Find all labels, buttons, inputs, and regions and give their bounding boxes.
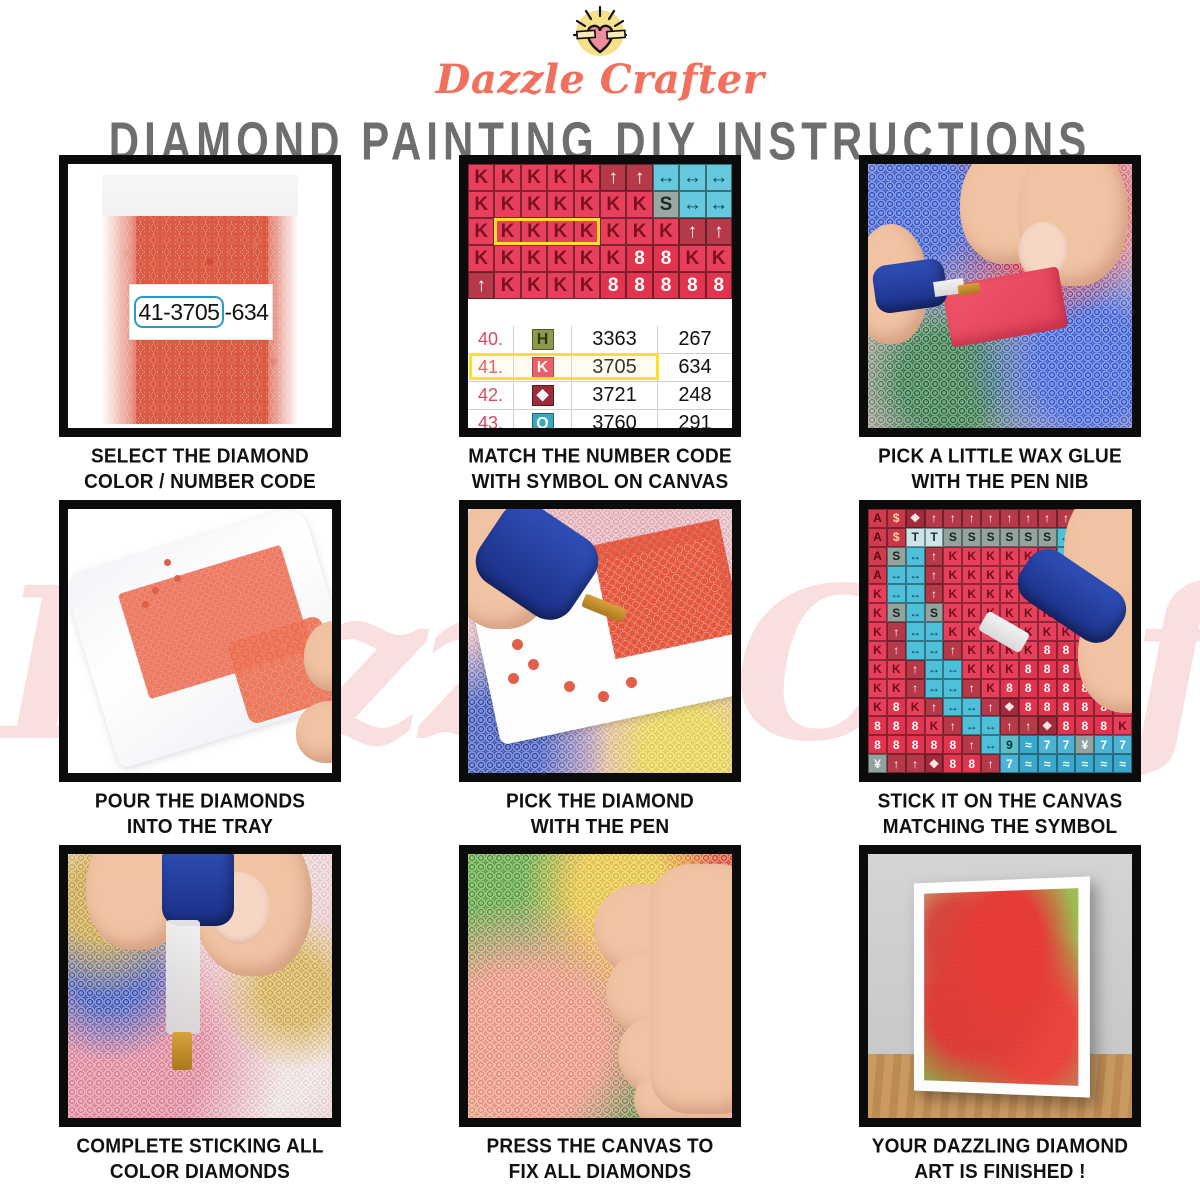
legend-row-count: 267 — [658, 326, 732, 353]
symbol-cell: K — [868, 584, 887, 603]
grooved-tray-with-red-diamonds-photo — [68, 509, 332, 773]
symbol-cell: ↑ — [906, 660, 925, 679]
step-7-caption-line1: COMPLETE STICKING ALL — [50, 1135, 350, 1161]
symbol-cell: ❖ — [906, 509, 925, 528]
step-3-caption-line1: PICK A LITTLE WAX GLUE — [850, 445, 1150, 471]
symbol-cell: 8 — [1057, 679, 1076, 698]
symbol-cell: ↔ — [925, 641, 944, 660]
symbol-cell: ↑ — [887, 622, 906, 641]
chart-cell: K — [468, 218, 494, 245]
chart-cell: 8 — [653, 245, 679, 272]
legend-row-dmc-code: 3363 — [572, 326, 658, 353]
step-3: PICK A LITTLE WAX GLUE WITH THE PEN NIB — [850, 155, 1150, 500]
symbol-cell: 8 — [1057, 698, 1076, 717]
legend-color-swatch: Q — [532, 413, 554, 434]
symbol-cell: K — [981, 641, 1000, 660]
step-2-caption-line1: MATCH THE NUMBER CODE — [450, 445, 750, 471]
symbol-cell: ↔ — [906, 641, 925, 660]
symbol-cell: K — [962, 566, 981, 585]
symbol-cell: K — [868, 660, 887, 679]
symbol-cell: 8 — [887, 698, 906, 717]
symbol-cell: 7 — [1094, 735, 1113, 754]
blue-pen-grip — [162, 854, 234, 926]
symbol-cell: ↔ — [887, 584, 906, 603]
step-4: POUR THE DIAMONDS INTO THE TRAY — [50, 500, 350, 845]
symbol-cell: K — [943, 584, 962, 603]
bag-code-text: 41-3705-634 — [134, 299, 269, 326]
chart-cell: K — [468, 245, 494, 272]
symbol-cell: ❖ — [1038, 716, 1057, 735]
step-5: PICK THE DIAMOND WITH THE PEN — [450, 500, 750, 845]
symbol-cell: ≈ — [1019, 754, 1038, 773]
symbol-cell: S — [1000, 528, 1019, 547]
symbol-cell: ↔ — [906, 547, 925, 566]
stray-diamond — [152, 587, 159, 594]
symbol-cell: K — [1000, 566, 1019, 585]
symbol-cell: ↔ — [925, 660, 944, 679]
symbol-cell: 8 — [943, 754, 962, 773]
symbol-cell: K — [1000, 547, 1019, 566]
chart-cell: K — [679, 245, 705, 272]
symbol-cell: S — [925, 603, 944, 622]
symbol-cell: ↔ — [906, 603, 925, 622]
symbol-cell: ↑ — [1019, 509, 1038, 528]
step-4-caption-line1: POUR THE DIAMONDS — [50, 790, 350, 816]
step-4-caption-line2: INTO THE TRAY — [50, 815, 350, 841]
symbol-cell: A — [868, 547, 887, 566]
symbol-cell: 8 — [962, 754, 981, 773]
stray-diamond — [174, 575, 181, 582]
symbol-cell: K — [868, 698, 887, 717]
symbol-cell: ↔ — [943, 679, 962, 698]
symbol-cell: K — [868, 622, 887, 641]
symbol-cell: 8 — [1057, 660, 1076, 679]
symbol-cell: S — [962, 528, 981, 547]
symbol-cell: K — [943, 566, 962, 585]
chart-cell: K — [547, 245, 573, 272]
symbol-cell: K — [943, 547, 962, 566]
symbol-cell: ↔ — [981, 716, 1000, 735]
symbol-cell: K — [962, 603, 981, 622]
symbol-cell: 8 — [943, 735, 962, 754]
symbol-cell: K — [981, 679, 1000, 698]
hands-pen-nib-in-pink-wax-photo — [868, 164, 1132, 428]
symbol-cell: 8 — [1094, 716, 1113, 735]
legend-row-symbol: Q — [514, 410, 572, 437]
symbol-cell: ↑ — [962, 735, 981, 754]
symbol-cell: A — [868, 566, 887, 585]
symbol-cell: 7 — [1113, 735, 1132, 754]
step-6: A$❖↑↑↑↑↑↑↑↑↑KKA$TTSSSSSS↔↔SSAS↔↑KKKKK↑↔↔… — [850, 500, 1150, 845]
symbol-cell: ↔ — [887, 566, 906, 585]
diamond-bag: 41-3705-634 — [102, 174, 298, 424]
step-9: YOUR DAZZLING DIAMOND ART IS FINISHED ! — [850, 845, 1150, 1190]
symbol-cell: ↑ — [925, 509, 944, 528]
symbol-cell: 7 — [1038, 735, 1057, 754]
stray-diamond — [626, 677, 637, 688]
canvas-chart-with-legend-table: KKKKK↑↑↔↔↔KKKKKKKS↔↔KKKKKKKK↑↑KKKKKK88KK… — [468, 164, 732, 428]
symbol-cell: 8 — [906, 716, 925, 735]
steps-grid: 41-3705-634 SELECT THE DIAMOND COLOR / N… — [0, 155, 1200, 1190]
symbol-cell: K — [887, 679, 906, 698]
symbol-cell: K — [1113, 716, 1132, 735]
symbol-cell: ≈ — [1057, 754, 1076, 773]
step-9-caption: YOUR DAZZLING DIAMOND ART IS FINISHED ! — [850, 1135, 1150, 1186]
step-2-image-frame: KKKKK↑↑↔↔↔KKKKKKKS↔↔KKKKKKKK↑↑KKKKKK88KK… — [459, 155, 741, 437]
chart-cell: 8 — [706, 272, 732, 299]
symbol-cell: K — [1000, 584, 1019, 603]
symbol-cell: ↑ — [925, 547, 944, 566]
stray-diamond — [598, 691, 609, 702]
symbol-cell: ↑ — [1038, 509, 1057, 528]
symbol-cell: S — [981, 528, 1000, 547]
stray-diamond — [142, 601, 149, 608]
hand-with-pen-on-finished-canvas-photo — [68, 854, 332, 1118]
symbol-cell: 8 — [1075, 716, 1094, 735]
chart-cell: ↔ — [679, 164, 705, 191]
hand-pressing-floral-canvas-photo — [468, 854, 732, 1118]
step-5-caption-line2: WITH THE PEN — [450, 815, 750, 841]
symbol-canvas-with-pen-photo: A$❖↑↑↑↑↑↑↑↑↑KKA$TTSSSSSS↔↔SSAS↔↑KKKKK↑↔↔… — [868, 509, 1132, 773]
legend-row: 43.Q3760291 — [468, 410, 732, 437]
symbol-cell: K — [1038, 622, 1057, 641]
step-1: 41-3705-634 SELECT THE DIAMOND COLOR / N… — [50, 155, 350, 500]
stray-diamond — [164, 559, 171, 566]
chart-cell: S — [653, 191, 679, 218]
symbol-cell: 8 — [887, 735, 906, 754]
chart-cell: K — [521, 164, 547, 191]
symbol-cell: 8 — [868, 716, 887, 735]
blue-pen-picking-diamond-from-tray-photo — [468, 509, 732, 773]
step-6-caption-line1: STICK IT ON THE CANVAS — [850, 790, 1150, 816]
symbol-cell: K — [1000, 660, 1019, 679]
chart-cell: 8 — [679, 272, 705, 299]
legend-row-count: 291 — [658, 410, 732, 437]
symbol-cell: 8 — [1038, 698, 1057, 717]
symbol-cell: ↔ — [943, 698, 962, 717]
symbol-cell: 8 — [1038, 641, 1057, 660]
step-6-caption-line2: MATCHING THE SYMBOL — [850, 815, 1150, 841]
legend-row-symbol: H — [514, 326, 572, 353]
symbol-cell: ↔ — [962, 716, 981, 735]
chart-cell: K — [626, 218, 652, 245]
page-header: Dazzle Crafter DIAMOND PAINTING DIY INST… — [0, 0, 1200, 159]
chart-cell: 8 — [653, 272, 679, 299]
symbol-cell: ¥ — [868, 754, 887, 773]
symbol-cell: ≈ — [1038, 754, 1057, 773]
chart-cell: K — [468, 191, 494, 218]
step-8: PRESS THE CANVAS TO FIX ALL DIAMONDS — [450, 845, 750, 1190]
symbol-cell: ↑ — [981, 754, 1000, 773]
symbol-cell: T — [925, 528, 944, 547]
chart-cell: K — [521, 245, 547, 272]
symbol-cell: K — [962, 622, 981, 641]
symbol-cell: $ — [887, 509, 906, 528]
stray-diamond — [508, 673, 519, 684]
instructions-page: Dazzle Crafter DIAMOND PAINTING DIY INST… — [0, 0, 1200, 1200]
symbol-cell: ¥ — [1075, 735, 1094, 754]
symbol-cell: ↑ — [943, 641, 962, 660]
symbol-cell: ↔ — [981, 735, 1000, 754]
symbol-cell: A — [868, 509, 887, 528]
symbol-cell: ↑ — [887, 641, 906, 660]
chart-cell: K — [574, 245, 600, 272]
symbol-cell: ↑ — [1000, 716, 1019, 735]
symbol-cell: K — [943, 622, 962, 641]
legend-row-dmc-code: 3760 — [572, 410, 658, 437]
step-3-caption-line2: WITH THE PEN NIB — [850, 470, 1150, 496]
chart-cell: K — [574, 164, 600, 191]
symbol-cell: ↔ — [962, 698, 981, 717]
symbol-cell: 8 — [1057, 716, 1076, 735]
symbol-cell: 7 — [1057, 735, 1076, 754]
step-7-caption: COMPLETE STICKING ALL COLOR DIAMONDS — [50, 1135, 350, 1186]
symbol-cell: ≈ — [1094, 754, 1113, 773]
symbol-cell: 8 — [906, 735, 925, 754]
step-1-image-frame: 41-3705-634 — [59, 155, 341, 437]
symbol-cell: K — [943, 603, 962, 622]
symbol-cell: K — [962, 547, 981, 566]
chart-cell: K — [494, 164, 520, 191]
symbol-cell: ≈ — [1019, 735, 1038, 754]
symbol-cell: ↔ — [925, 679, 944, 698]
chart-cell: K — [494, 245, 520, 272]
step-2-caption-line2: WITH SYMBOL ON CANVAS — [450, 470, 750, 496]
symbol-cell: ↑ — [887, 754, 906, 773]
chart-cell: K — [600, 218, 626, 245]
legend-row-number: 43. — [468, 410, 514, 437]
symbol-cell: 8 — [1019, 679, 1038, 698]
step-6-image-frame: A$❖↑↑↑↑↑↑↑↑↑KKA$TTSSSSSS↔↔SSAS↔↑KKKKK↑↔↔… — [859, 500, 1141, 782]
symbol-cell: T — [906, 528, 925, 547]
symbol-cell: ≈ — [1075, 754, 1094, 773]
symbol-cell: ↑ — [962, 509, 981, 528]
chart-cell: 8 — [626, 272, 652, 299]
symbol-cell: K — [925, 716, 944, 735]
legend-row-symbol: ❖ — [514, 382, 572, 409]
chart-cell: K — [626, 191, 652, 218]
symbol-cell: 8 — [1038, 679, 1057, 698]
step-5-caption: PICK THE DIAMOND WITH THE PEN — [450, 790, 750, 841]
legend-row: 42.❖3721248 — [468, 382, 732, 410]
symbol-cell: ↑ — [925, 698, 944, 717]
chart-cell: ↑ — [626, 164, 652, 191]
symbol-cell: ↑ — [1000, 509, 1019, 528]
chart-cell: K — [521, 272, 547, 299]
symbol-cell: 8 — [1038, 660, 1057, 679]
symbol-cell: K — [962, 641, 981, 660]
chart-cell: ↑ — [706, 218, 732, 245]
symbol-cell: K — [962, 584, 981, 603]
symbol-cell: 8 — [868, 735, 887, 754]
step-9-image-frame — [859, 845, 1141, 1127]
chart-cell: ↔ — [679, 191, 705, 218]
chart-cell: ↑ — [679, 218, 705, 245]
symbol-cell: K — [868, 679, 887, 698]
stray-diamond — [512, 639, 523, 650]
symbol-cell: S — [1038, 528, 1057, 547]
stray-diamond — [564, 681, 575, 692]
step-7-caption-line2: COLOR DIAMONDS — [50, 1160, 350, 1186]
symbol-cell: K — [868, 603, 887, 622]
legend-row-number: 40. — [468, 326, 514, 353]
chart-cell: K — [468, 164, 494, 191]
diamond-bag-with-label-photo: 41-3705-634 — [68, 164, 332, 428]
step-9-caption-line2: ART IS FINISHED ! — [850, 1160, 1150, 1186]
symbol-cell: S — [943, 528, 962, 547]
symbol-cell: ↔ — [943, 660, 962, 679]
chart-cell: K — [706, 245, 732, 272]
symbol-cell: ↑ — [943, 716, 962, 735]
step-9-caption-line1: YOUR DAZZLING DIAMOND — [850, 1135, 1150, 1161]
symbol-cell: K — [906, 698, 925, 717]
symbol-cell: ↔ — [906, 584, 925, 603]
symbol-cell: ↔ — [925, 622, 944, 641]
chart-cell: 8 — [626, 245, 652, 272]
symbol-cell: K — [981, 547, 1000, 566]
canvas-symbol-chart: KKKKK↑↑↔↔↔KKKKKKKS↔↔KKKKKKKK↑↑KKKKKK88KK… — [468, 164, 732, 326]
symbol-cell: 7 — [1000, 754, 1019, 773]
symbol-cell: ↑ — [943, 509, 962, 528]
symbol-cell: ↔ — [906, 622, 925, 641]
chart-cell: K — [494, 272, 520, 299]
chart-cell: K — [574, 191, 600, 218]
symbol-cell: 8 — [925, 735, 944, 754]
step-8-caption-line1: PRESS THE CANVAS TO — [450, 1135, 750, 1161]
step-6-caption: STICK IT ON THE CANVAS MATCHING THE SYMB… — [850, 790, 1150, 841]
brand-name: Dazzle Crafter — [0, 56, 1200, 103]
symbol-cell: ❖ — [925, 754, 944, 773]
step-8-caption: PRESS THE CANVAS TO FIX ALL DIAMONDS — [450, 1135, 750, 1186]
symbol-cell: ↑ — [962, 679, 981, 698]
legend-row: 40.H3363267 — [468, 326, 732, 354]
stray-diamond — [528, 659, 539, 670]
chart-cell: K — [547, 191, 573, 218]
bag-code-tail: -634 — [224, 299, 268, 325]
chart-highlight-box — [494, 218, 600, 245]
symbol-cell: ≈ — [1113, 754, 1132, 773]
symbol-cell: K — [962, 660, 981, 679]
step-7: COMPLETE STICKING ALL COLOR DIAMONDS — [50, 845, 350, 1190]
symbol-cell: ❖ — [1000, 698, 1019, 717]
chart-cell: ↔ — [653, 164, 679, 191]
symbol-cell: ↑ — [906, 679, 925, 698]
step-1-caption: SELECT THE DIAMOND COLOR / NUMBER CODE — [50, 445, 350, 496]
legend-row-count: 248 — [658, 382, 732, 409]
step-3-caption: PICK A LITTLE WAX GLUE WITH THE PEN NIB — [850, 445, 1150, 496]
step-4-image-frame — [59, 500, 341, 782]
bag-code-highlight: 41-3705 — [134, 296, 225, 328]
symbol-cell: ↔ — [906, 566, 925, 585]
symbol-cell: ↑ — [981, 698, 1000, 717]
symbol-cell: K — [981, 584, 1000, 603]
symbol-cell: 8 — [1019, 698, 1038, 717]
chart-cell: K — [521, 191, 547, 218]
symbol-cell: 9 — [1000, 735, 1019, 754]
chart-cell: K — [653, 218, 679, 245]
symbol-cell: ↑ — [925, 584, 944, 603]
step-1-caption-line1: SELECT THE DIAMOND — [50, 445, 350, 471]
chart-cell: K — [574, 272, 600, 299]
symbol-cell: ↑ — [981, 509, 1000, 528]
chart-cell: ↑ — [600, 164, 626, 191]
legend-table: 40.H336326741.K370563442.❖372124843.Q376… — [468, 326, 732, 428]
legend-row-number: 42. — [468, 382, 514, 409]
step-5-caption-line1: PICK THE DIAMOND — [450, 790, 750, 816]
bag-code-label: 41-3705-634 — [129, 284, 273, 340]
chart-cell: K — [600, 191, 626, 218]
chart-cell: K — [547, 164, 573, 191]
framed-red-poppy-artwork-photo — [868, 854, 1132, 1118]
hand-palm — [650, 864, 732, 1114]
symbol-cell: ↑ — [925, 566, 944, 585]
step-2: KKKKK↑↑↔↔↔KKKKKKKS↔↔KKKKKKKK↑↑KKKKKK88KK… — [450, 155, 750, 500]
symbol-cell: 8 — [1000, 679, 1019, 698]
heart-with-pencil-sunburst-icon — [569, 4, 631, 60]
pen-nib — [172, 1032, 192, 1070]
legend-row-count: 634 — [658, 354, 732, 381]
symbol-cell: K — [868, 641, 887, 660]
chart-cell: K — [494, 191, 520, 218]
picture-frame — [914, 876, 1090, 1097]
symbol-cell: S — [1019, 528, 1038, 547]
legend-color-swatch: ❖ — [532, 385, 554, 406]
symbol-cell: S — [887, 547, 906, 566]
symbol-cell: K — [887, 660, 906, 679]
chart-cell: ↔ — [706, 164, 732, 191]
step-8-caption-line2: FIX ALL DIAMONDS — [450, 1160, 750, 1186]
symbol-cell: 8 — [1075, 698, 1094, 717]
legend-highlight-box — [469, 353, 659, 380]
chart-cell: ↔ — [706, 191, 732, 218]
symbol-cell: A — [868, 528, 887, 547]
symbol-cell: ↑ — [906, 754, 925, 773]
symbol-cell: $ — [887, 528, 906, 547]
legend-row-dmc-code: 3721 — [572, 382, 658, 409]
symbol-cell: S — [887, 603, 906, 622]
step-7-image-frame — [59, 845, 341, 1127]
step-1-caption-line2: COLOR / NUMBER CODE — [50, 470, 350, 496]
symbol-cell: 8 — [887, 716, 906, 735]
chart-cell: K — [600, 245, 626, 272]
pen-barrel — [166, 920, 200, 1034]
step-2-caption: MATCH THE NUMBER CODE WITH SYMBOL ON CAN… — [450, 445, 750, 496]
chart-cell: 8 — [600, 272, 626, 299]
symbol-cell: ↑ — [1019, 716, 1038, 735]
diamond-sparkle-overlay — [924, 888, 1078, 1086]
legend-rows: 40.H336326741.K370563442.❖372124843.Q376… — [468, 326, 732, 437]
step-8-image-frame — [459, 845, 741, 1127]
symbol-cell: 8 — [1019, 660, 1038, 679]
chart-cell: K — [547, 272, 573, 299]
legend-color-swatch: H — [532, 329, 554, 350]
chart-cell: ↑ — [468, 272, 494, 299]
symbol-cell: 8 — [1057, 641, 1076, 660]
step-3-image-frame — [859, 155, 1141, 437]
symbol-cell: K — [981, 566, 1000, 585]
step-4-caption: POUR THE DIAMONDS INTO THE TRAY — [50, 790, 350, 841]
symbol-cell: K — [981, 660, 1000, 679]
step-5-image-frame — [459, 500, 741, 782]
